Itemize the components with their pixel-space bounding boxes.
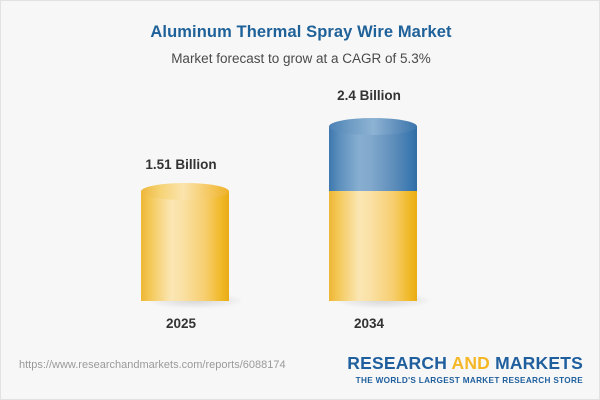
cylinder-top-ellipse [329,118,417,135]
brand-tagline: THE WORLD'S LARGEST MARKET RESEARCH STOR… [347,376,583,385]
chart-subtitle: Market forecast to grow at a CAGR of 5.3… [1,51,600,66]
brand-word-research: RESEARCH [347,353,447,373]
chart-plot-area: 1.51 Billion 2025 2.4 Billion [1,79,600,341]
brand-word-and: AND [451,353,490,373]
chart-card: Aluminum Thermal Spray Wire Market Marke… [0,0,600,400]
bar-category-label: 2034 [289,316,449,331]
brand-logo[interactable]: RESEARCH AND MARKETS THE WORLD'S LARGEST… [347,353,583,385]
bar-segment-growth [329,126,417,191]
cylinder-body [141,191,229,301]
card-footer: https://www.researchandmarkets.com/repor… [1,347,599,399]
bar-segment-base [141,191,229,301]
cylinder-top-ellipse [141,183,229,200]
bar-group-2034: 2.4 Billion 2034 [289,79,449,341]
cylinder-body [329,126,417,191]
bar-group-2025: 1.51 Billion 2025 [101,79,261,341]
chart-title: Aluminum Thermal Spray Wire Market [1,23,600,42]
brand-logo-wordmark: RESEARCH AND MARKETS [347,353,583,374]
bar-value-label: 1.51 Billion [101,157,261,172]
bar-segment-base [329,191,417,301]
report-url[interactable]: https://www.researchandmarkets.com/repor… [19,359,286,371]
cylinder-body [329,191,417,301]
bar-value-label: 2.4 Billion [289,88,449,103]
bar-category-label: 2025 [101,316,261,331]
brand-word-markets: MARKETS [495,353,583,373]
